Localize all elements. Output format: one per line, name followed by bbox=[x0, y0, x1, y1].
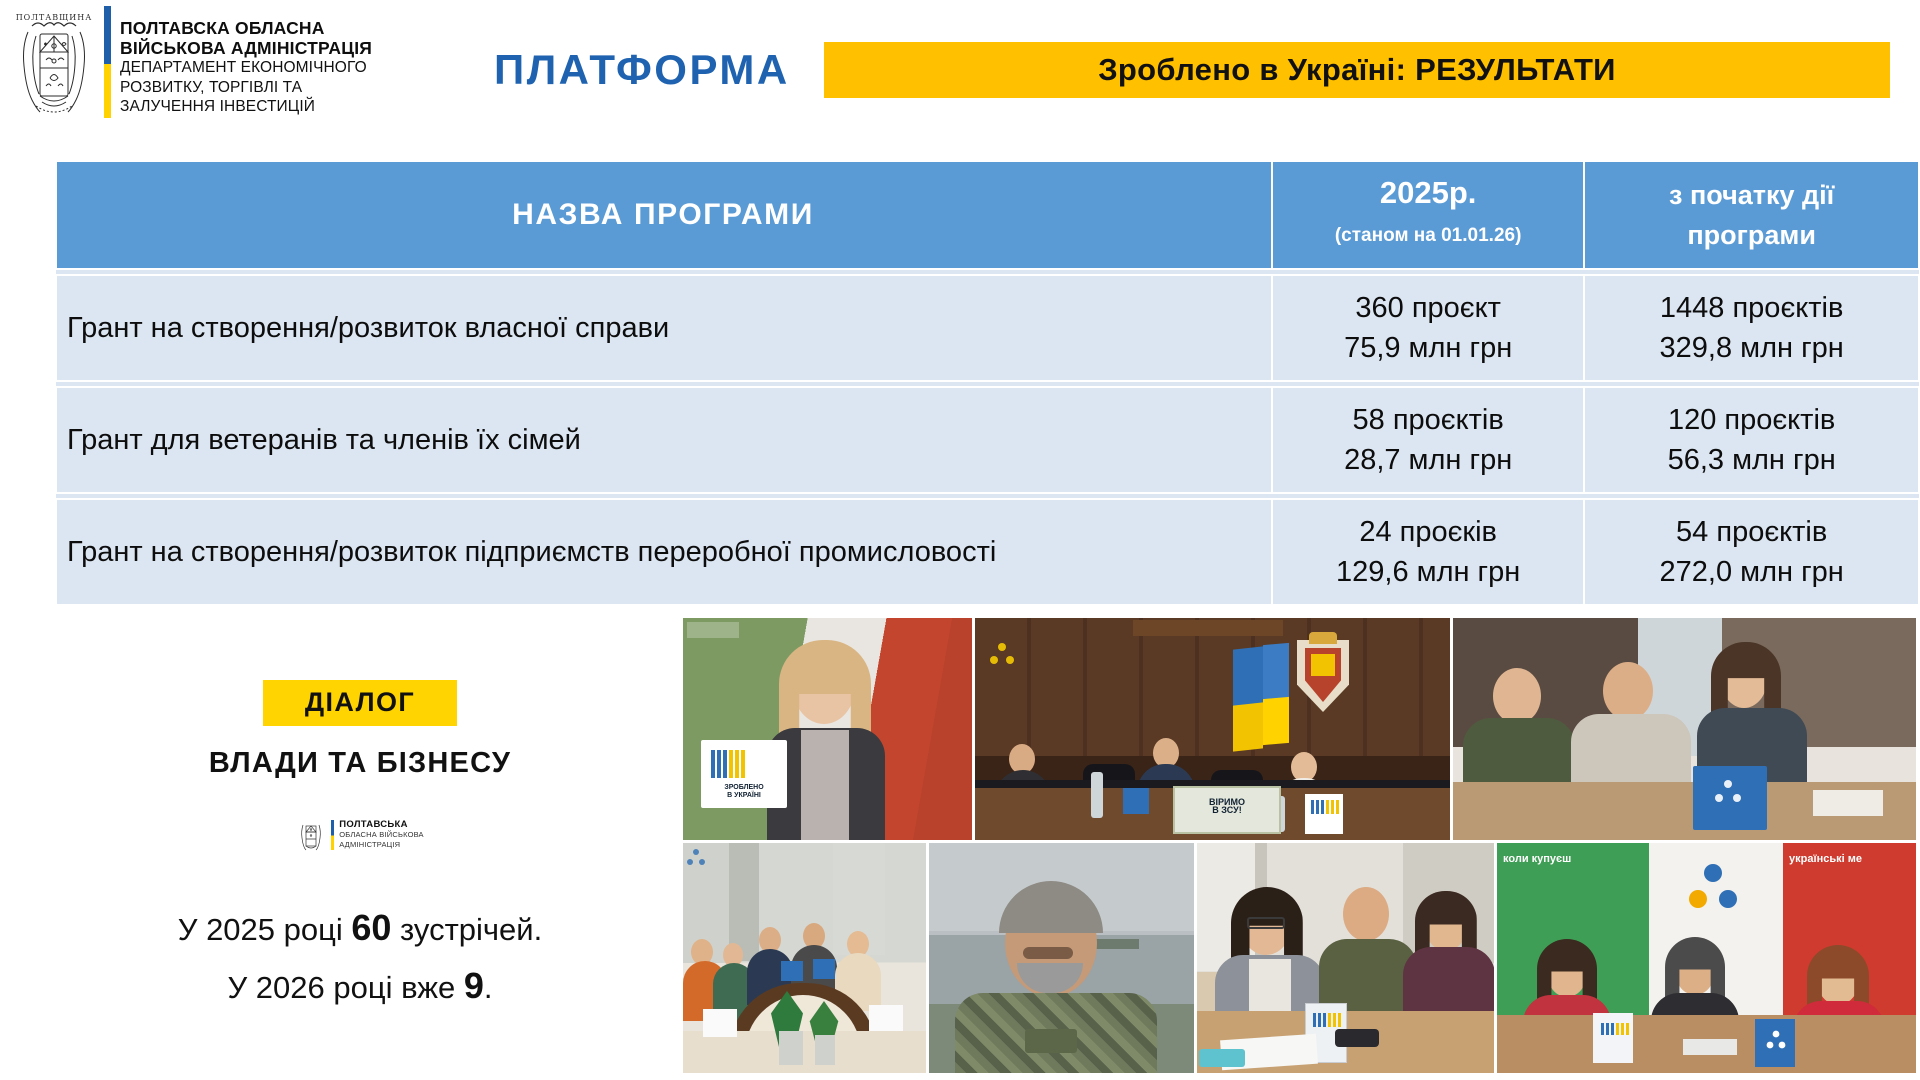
organization-name: ПОЛТАВСКА ОБЛАСНА ВІЙСЬКОВА АДМІНІСТРАЦІ… bbox=[120, 6, 372, 117]
photo-2-caption: ВІРИМО В ЗСУ! bbox=[1175, 798, 1279, 814]
stats-2025-suffix: зустрічей. bbox=[391, 912, 542, 947]
cell-program-name: Грант на створення/розвиток власної спра… bbox=[56, 275, 1272, 381]
platforma-title: ПЛАТФОРМА bbox=[494, 46, 790, 94]
programs-table: НАЗВА ПРОГРАМИ 2025р. (станом на 01.01.2… bbox=[55, 160, 1920, 606]
cell-total: 54 проєктів 272,0 млн грн bbox=[1584, 499, 1919, 605]
mini-brand-bar bbox=[331, 820, 334, 850]
cell-2025: 24 проєків 129,6 млн грн bbox=[1272, 499, 1584, 605]
photo-meeting-three-people bbox=[1453, 618, 1916, 840]
photo-7-caption-right: українські ме bbox=[1789, 853, 1915, 866]
results-banner-text: Зроблено в Україні: РЕЗУЛЬТАТИ bbox=[1098, 52, 1616, 88]
mini-logo-line-3: АДМІНІСТРАЦІЯ bbox=[339, 840, 424, 850]
photo-7-caption-left: коли купуєш bbox=[1503, 853, 1645, 866]
cell-2025: 360 проєкт 75,9 млн грн bbox=[1272, 275, 1584, 381]
org-line-4: РОЗВИТКУ, ТОРГІВЛІ ТА bbox=[120, 78, 372, 98]
org-line-5: ЗАЛУЧЕННЯ ІНВЕСТИЦІЙ bbox=[120, 97, 372, 117]
photo-conference-hall-flags: ВІРИМО В ЗСУ! bbox=[975, 618, 1450, 840]
page-header: ПОЛТАВЩИНА bbox=[0, 0, 1920, 126]
table-header-row: НАЗВА ПРОГРАМИ 2025р. (станом на 01.01.2… bbox=[56, 161, 1919, 269]
photo-1-caption: ЗРОБЛЕНО В УКРАЇНІ bbox=[705, 784, 783, 800]
dialog-chip: ДІАЛОГ bbox=[263, 680, 457, 726]
column-header-since-start: з початку дії програми bbox=[1584, 161, 1919, 269]
mini-logo-line-1: ПОЛТАВСЬКА bbox=[339, 820, 424, 830]
mini-logo-text: ПОЛТАВСЬКА ОБЛАСНА ВІЙСЬКОВА АДМІНІСТРАЦ… bbox=[339, 820, 424, 850]
stats-2026-prefix: У 2026 році вже bbox=[228, 970, 464, 1005]
stats-2026-count: 9 bbox=[464, 965, 484, 1006]
cell-program-name: Грант на створення/розвиток підприємств … bbox=[56, 499, 1272, 605]
photo-collage: ЗРОБЛЕНО В УКРАЇНІ bbox=[683, 618, 1916, 1073]
dialog-subtitle: ВЛАДИ ТА БІЗНЕСУ bbox=[60, 747, 660, 780]
collage-row-bottom: коли купуєш українські ме bbox=[683, 843, 1916, 1073]
svg-text:ПОЛТАВЩИНА: ПОЛТАВЩИНА bbox=[16, 13, 93, 22]
photo-woman-interview: ЗРОБЛЕНО В УКРАЇНІ bbox=[683, 618, 972, 840]
dialog-section: ДІАЛОГ ВЛАДИ ТА БІЗНЕСУ bbox=[60, 680, 660, 1016]
collage-row-top: ЗРОБЛЕНО В УКРАЇНІ bbox=[683, 618, 1916, 840]
slide-root: ПОЛТАВЩИНА bbox=[0, 0, 1920, 1080]
table-body: Грант на створення/розвиток власної спра… bbox=[56, 269, 1919, 605]
column-header-2025: 2025р. (станом на 01.01.26) bbox=[1272, 161, 1584, 269]
stats-line-2025: У 2025 році 60 зустрічей. bbox=[60, 900, 660, 958]
org-line-1: ПОЛТАВСКА ОБЛАСНА bbox=[120, 18, 372, 38]
organization-branding: ПОЛТАВЩИНА bbox=[6, 6, 372, 118]
photo-banners-green-red: коли купуєш українські ме bbox=[1497, 843, 1916, 1073]
org-line-3: ДЕПАРТАМЕНТ ЕКОНОМІЧНОГО bbox=[120, 58, 372, 78]
table-row: Грант на створення/розвиток власної спра… bbox=[56, 275, 1919, 381]
column-header-program-name: НАЗВА ПРОГРАМИ bbox=[56, 161, 1272, 269]
mini-logo-line-2: ОБЛАСНА ВІЙСЬКОВА bbox=[339, 830, 424, 840]
table-row: Грант для ветеранів та членів їх сімей 5… bbox=[56, 387, 1919, 493]
table-header: НАЗВА ПРОГРАМИ 2025р. (станом на 01.01.2… bbox=[56, 161, 1919, 269]
photo-soldier-video-call bbox=[929, 843, 1193, 1073]
brand-color-bar bbox=[104, 6, 111, 118]
cell-total: 120 проєктів 56,3 млн грн bbox=[1584, 387, 1919, 493]
stats-2026-suffix: . bbox=[484, 970, 493, 1005]
meetings-stats: У 2025 році 60 зустрічей. У 2026 році вж… bbox=[60, 900, 660, 1016]
stats-2025-count: 60 bbox=[351, 907, 391, 948]
stats-line-2026: У 2026 році вже 9. bbox=[60, 958, 660, 1016]
cell-total: 1448 проєктів 329,8 млн грн bbox=[1584, 275, 1919, 381]
photo-roundtable-plants bbox=[683, 843, 926, 1073]
mini-organization-logo: ПОЛТАВСЬКА ОБЛАСНА ВІЙСЬКОВА АДМІНІСТРАЦ… bbox=[60, 818, 660, 852]
mini-coat-of-arms-icon bbox=[296, 818, 326, 852]
cell-program-name: Грант для ветеранів та членів їх сімей bbox=[56, 387, 1272, 493]
org-line-2: ВІЙСЬКОВА АДМІНІСТРАЦІЯ bbox=[120, 38, 372, 58]
cell-2025: 58 проєктів 28,7 млн грн bbox=[1272, 387, 1584, 493]
photo-office-meeting-woman bbox=[1197, 843, 1494, 1073]
results-banner: Зроблено в Україні: РЕЗУЛЬТАТИ bbox=[824, 42, 1890, 98]
stats-2025-prefix: У 2025 році bbox=[178, 912, 352, 947]
table-row: Грант на створення/розвиток підприємств … bbox=[56, 499, 1919, 605]
poltava-coat-of-arms-icon: ПОЛТАВЩИНА bbox=[6, 6, 102, 118]
